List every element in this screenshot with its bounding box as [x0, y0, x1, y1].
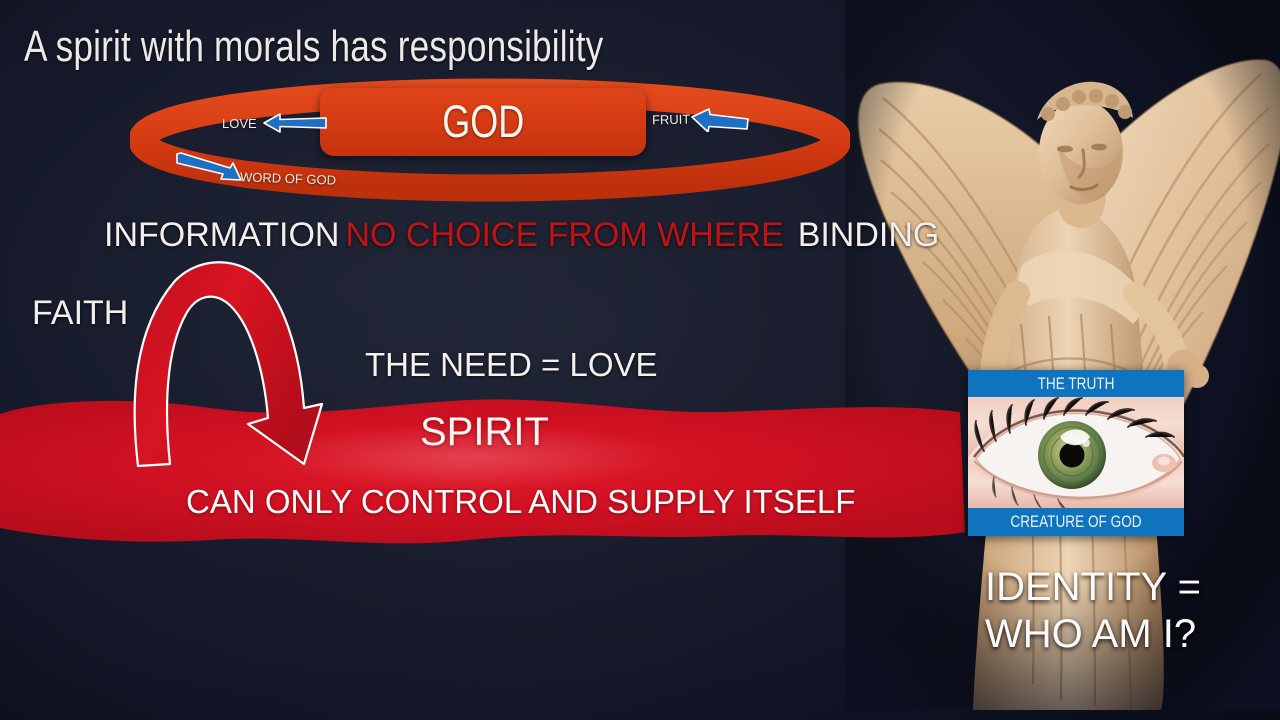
- info-row: INFORMATIONNO CHOICE FROM WHEREBINDING: [104, 216, 939, 255]
- curved-arrow-down-icon: [108, 258, 368, 478]
- arrow-right-icon: [175, 152, 243, 187]
- info-left-label: INFORMATION: [104, 216, 339, 254]
- spirit-subtitle-label: CAN ONLY CONTROL AND SUPPLY ITSELF: [186, 483, 855, 521]
- arrow-left-icon: [262, 112, 328, 139]
- info-middle-label: NO CHOICE FROM WHERE: [345, 216, 783, 254]
- god-center-box: GOD: [320, 88, 646, 156]
- ring-label-fruit: FRUIT: [652, 112, 691, 128]
- need-equals-love-label: THE NEED = LOVE: [365, 346, 658, 384]
- page-title: A spirit with morals has responsibility: [24, 22, 748, 72]
- faith-label: FAITH: [32, 294, 128, 333]
- spirit-label: SPIRIT: [420, 410, 549, 455]
- info-right-label: BINDING: [798, 216, 940, 254]
- eye-panel-footer: CREATURE OF GOD: [968, 508, 1184, 536]
- ring-label-love: LOVE: [222, 116, 257, 131]
- eye-panel-header: THE TRUTH: [968, 370, 1184, 398]
- human-eye-photo: [968, 397, 1184, 509]
- arrow-left-icon: [690, 108, 750, 137]
- slide-canvas: A spirit with morals has responsibility …: [0, 0, 1280, 720]
- truth-eye-panel: THE TRUTH: [968, 370, 1184, 536]
- god-label: GOD: [320, 88, 646, 156]
- page-title-text: A spirit with morals has responsibility: [24, 22, 603, 72]
- angel-statue-image: [845, 0, 1280, 710]
